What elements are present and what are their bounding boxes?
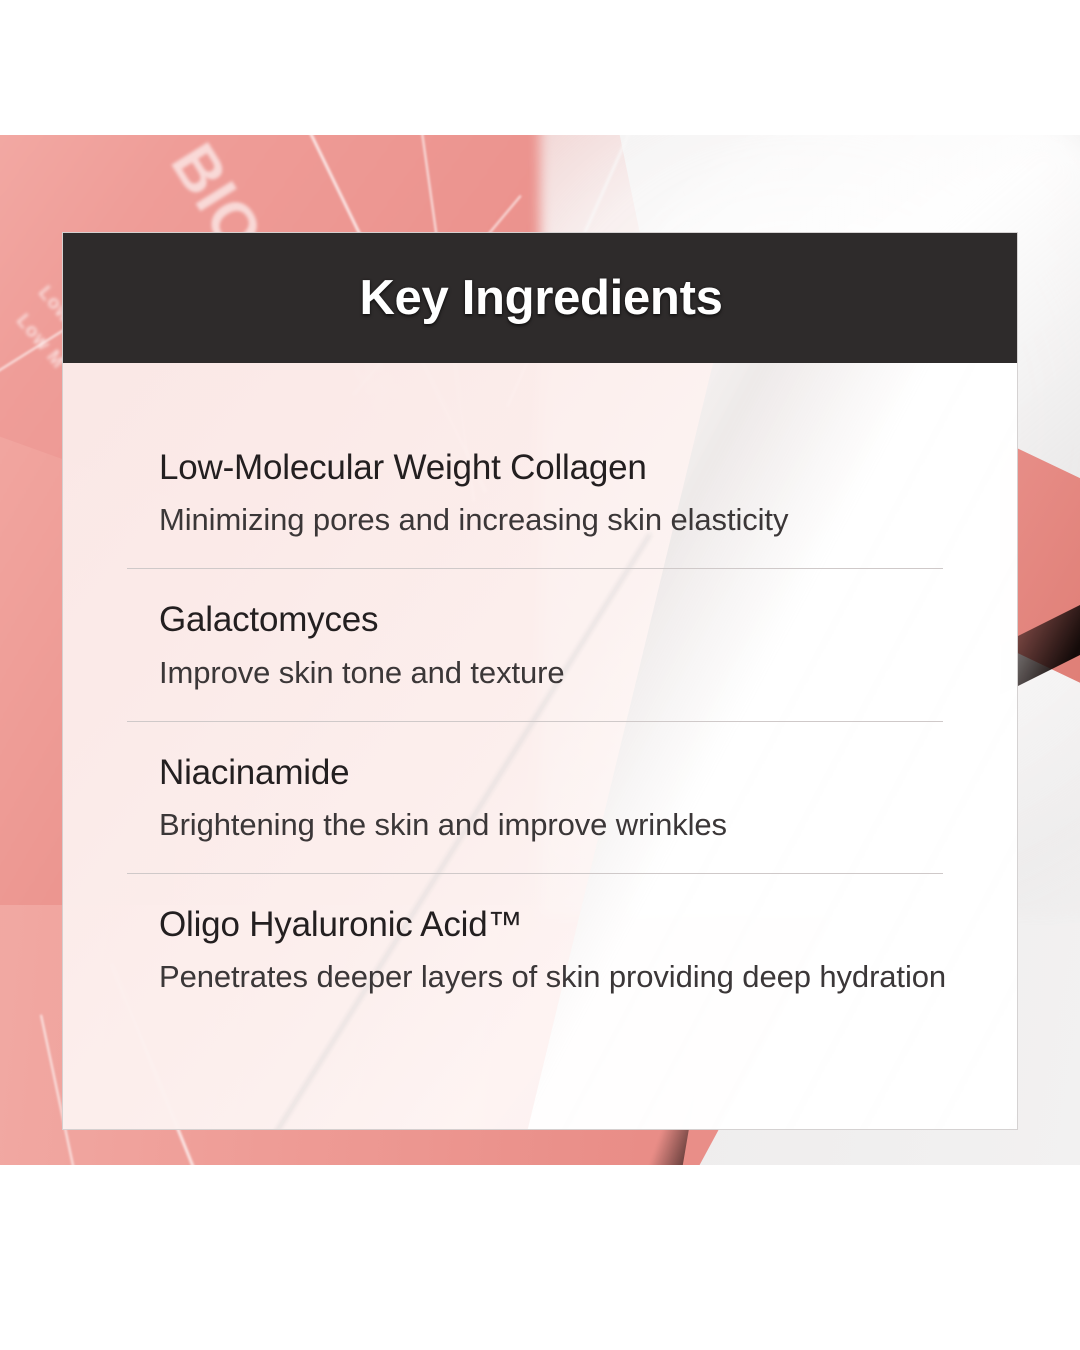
ingredient-item: Oligo Hyaluronic Acid™ Penetrates deeper… [159,874,949,1025]
ingredient-item: Galactomyces Improve skin tone and textu… [159,569,949,720]
ingredient-description: Penetrates deeper layers of skin providi… [159,956,949,997]
ingredient-item: Low-Molecular Weight Collagen Minimizing… [159,363,949,568]
ingredient-name: Oligo Hyaluronic Acid™ [159,905,949,944]
ingredient-description: Improve skin tone and texture [159,652,949,693]
ingredient-name: Niacinamide [159,753,949,792]
screenshot-canvas: Collagen MASK BIO Low M Low M Key Ingred… [0,0,1080,1350]
ingredient-list: Low-Molecular Weight Collagen Minimizing… [63,363,1018,1026]
ingredient-name: Low-Molecular Weight Collagen [159,448,949,487]
ingredient-description: Minimizing pores and increasing skin ela… [159,499,949,540]
page-title: Key Ingredients [359,270,722,326]
card-header-bar: Key Ingredients [63,233,1018,363]
key-ingredients-card: Key Ingredients Low-Molecular Weight Col… [62,232,1018,1130]
ingredient-description: Brightening the skin and improve wrinkle… [159,804,949,845]
ingredient-name: Galactomyces [159,600,949,639]
ingredient-item: Niacinamide Brightening the skin and imp… [159,722,949,873]
